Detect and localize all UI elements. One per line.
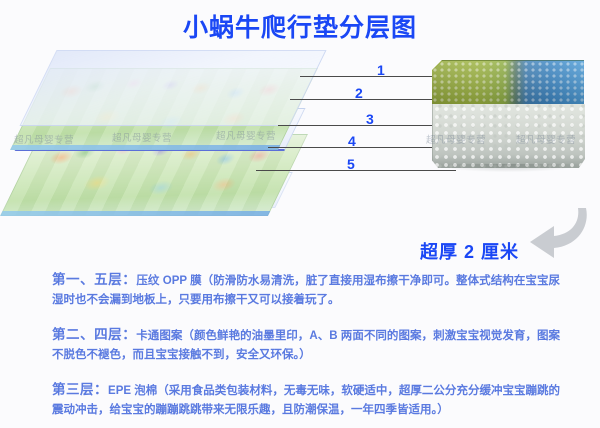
leader-line-2 (290, 99, 448, 100)
callout-number-4: 4 (348, 134, 356, 148)
callout-number-3: 3 (366, 112, 374, 126)
description-section: 第一、五层：压纹 OPP 膜（防滑防水易清洗，脏了直接用湿布擦干净即可。整体式结… (0, 256, 600, 428)
description-paragraph-3: 第三层：EPE 泡棉（采用食品类包装材料，无毒无味，软硬适中，超厚二公分充分缓冲… (0, 378, 600, 422)
leader-line-1 (300, 76, 445, 77)
paragraph-lead-3: 第三层： (52, 382, 108, 397)
paragraph-lead-1: 第一、五层： (52, 272, 136, 287)
description-paragraph-1: 第一、五层：压纹 OPP 膜（防滑防水易清洗，脏了直接用湿布擦干净即可。整体式结… (0, 268, 600, 312)
paragraph-lead-2: 第二、四层： (52, 327, 136, 342)
layer-diagram: 超凡母婴专营 超凡母婴专营 超凡母婴专营 1 2 3 4 5 超凡母婴专营 超凡… (0, 46, 600, 251)
curved-arrow-icon (520, 206, 592, 262)
exploded-mat-illustration: 超凡母婴专营 超凡母婴专营 超凡母婴专营 (8, 46, 318, 251)
mat-layer-opp-film (19, 50, 326, 126)
callout-number-5: 5 (347, 157, 355, 171)
cross-section-foam-body (432, 104, 585, 168)
leader-line-5 (256, 170, 456, 171)
cross-section-block: 超凡母婴专营 超凡母婴专营 (432, 60, 584, 172)
page-title: 小蜗牛爬行垫分层图 (0, 8, 600, 44)
paragraph-text-3: EPE 泡棉（采用食品类包装材料，无毒无味，软硬适中，超厚二公分充分缓冲宝宝蹦跳… (52, 385, 560, 417)
callout-number-1: 1 (377, 63, 385, 77)
leader-line-4 (268, 147, 453, 148)
callout-number-2: 2 (355, 86, 363, 100)
cross-section-shadow (434, 164, 582, 172)
description-paragraph-2: 第二、四层：卡通图案（颜色鲜艳的油墨里印，A、B 两面不同的图案，刺激宝宝视觉发… (0, 323, 600, 367)
leader-line-3 (278, 125, 450, 126)
cross-section-surface (432, 60, 584, 107)
